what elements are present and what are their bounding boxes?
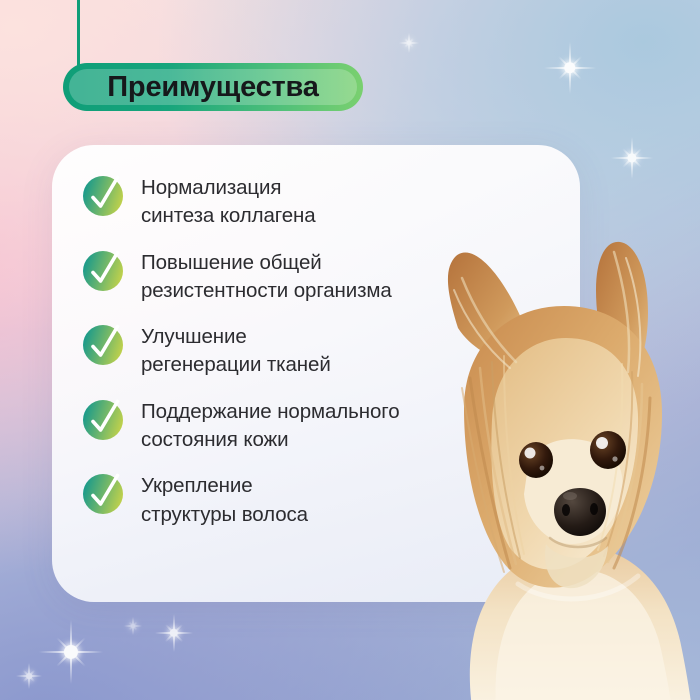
check-circle-icon [82,175,124,217]
sparkle-star-icon [16,663,42,689]
accent-vertical-line [77,0,80,70]
benefit-list-item: Укрепление структуры волоса [82,471,560,529]
check-circle-icon [82,250,124,292]
benefits-list: Нормализация синтеза коллагенаПовышение … [82,173,560,529]
check-circle-icon [82,399,124,441]
section-title-label: Преимущества [107,73,318,102]
benefit-text: Укрепление структуры волоса [141,471,308,529]
benefit-list-item: Поддержание нормального состояния кожи [82,397,560,455]
check-circle-icon [82,324,124,366]
sparkle-star-icon [544,42,596,94]
sparkle-star-icon [399,33,419,53]
benefit-text: Поддержание нормального состояния кожи [141,397,400,455]
section-title-badge: Преимущества [63,63,363,111]
benefits-card: Нормализация синтеза коллагенаПовышение … [52,145,580,602]
sparkle-star-icon [124,617,142,635]
benefit-list-item: Повышение общей резистентности организма [82,248,560,306]
sparkle-star-icon [611,137,653,179]
sparkle-star-icon [39,620,103,684]
sparkle-star-icon [155,614,193,652]
benefit-text: Нормализация синтеза коллагена [141,173,316,231]
benefit-text: Повышение общей резистентности организма [141,248,392,306]
benefit-list-item: Нормализация синтеза коллагена [82,173,560,231]
promo-slide: Преимущества Нормализация синтеза коллаг… [0,0,700,700]
benefit-text: Улучшение регенерации тканей [141,322,331,380]
check-circle-icon [82,473,124,515]
benefit-list-item: Улучшение регенерации тканей [82,322,560,380]
